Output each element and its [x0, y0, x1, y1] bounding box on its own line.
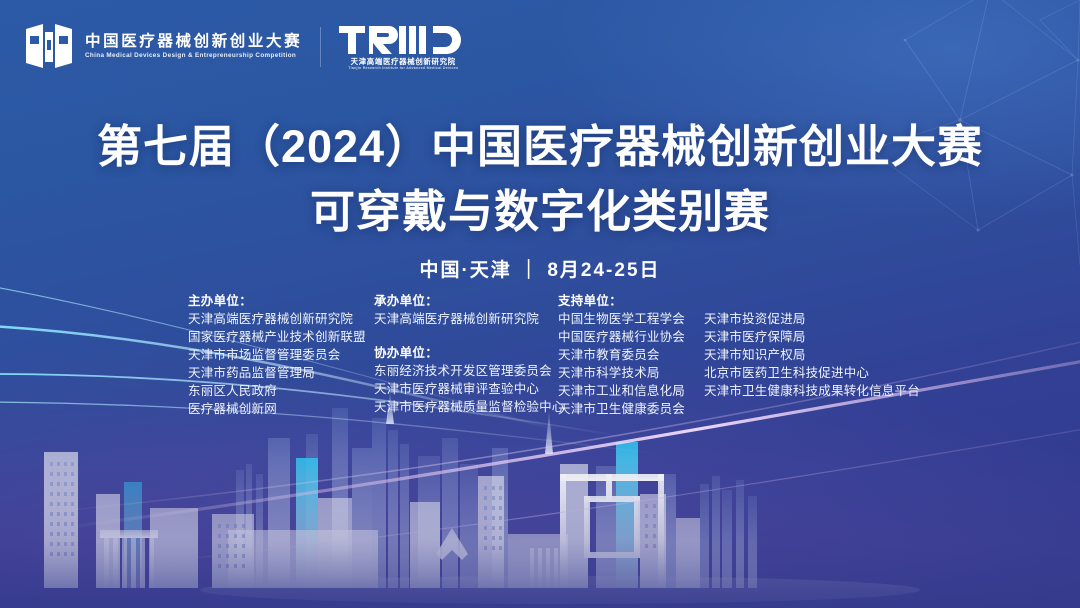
list-item: 天津市科学技术局	[558, 364, 694, 382]
list-item: 国家医疗器械产业技术创新联盟	[188, 328, 374, 346]
list-item: 中国生物医学工程学会	[558, 310, 694, 328]
coorganizer-group: 协办单位： 东丽经济技术开发区管理委员会 天津市医疗器械审评查验中心 天津市医疗…	[374, 344, 558, 416]
event-location-date: 中国·天津 ｜ 8月24-25日	[0, 255, 1080, 282]
supporters-sub-column-b: 天津市投资促进局 天津市医疗保障局 天津市知识产权局 北京市医药卫生科技促进中心…	[704, 292, 914, 418]
title-line-2: 可穿戴与数字化类别赛	[0, 183, 1080, 242]
title-block: 第七届（2024）中国医疗器械创新创业大赛 可穿戴与数字化类别赛	[0, 118, 1080, 241]
list-item: 天津高端医疗器械创新研究院	[188, 310, 374, 328]
list-item: 天津市教育委员会	[558, 346, 694, 364]
cmde-logo-en: China Medical Devices Design & Entrepren…	[85, 53, 307, 59]
organizer-group: 承办单位： 天津高端医疗器械创新研究院	[374, 292, 558, 328]
list-item: 天津市知识产权局	[704, 346, 914, 364]
gate-landmark	[560, 474, 664, 588]
trmd-logo-cn: 天津高端医疗器械创新研究院	[351, 58, 456, 65]
supporters-heading: 支持单位：	[558, 292, 694, 310]
host-column: 主办单位： 天津高端医疗器械创新研究院 国家医疗器械产业技术创新联盟 天津市市场…	[188, 292, 374, 418]
title-line-1: 第七届（2024）中国医疗器械创新创业大赛	[0, 118, 1080, 177]
list-item: 天津市工业和信息化局	[558, 382, 694, 400]
logo-bar: 中国医疗器械创新创业大赛 China Medical Devices Desig…	[24, 22, 467, 71]
cmde-logo-cn: 中国医疗器械创新创业大赛	[85, 34, 302, 50]
host-group: 主办单位： 天津高端医疗器械创新研究院 国家医疗器械产业技术创新联盟 天津市市场…	[188, 292, 374, 418]
organizations-block: 主办单位： 天津高端医疗器械创新研究院 国家医疗器械产业技术创新联盟 天津市市场…	[188, 292, 918, 418]
supporters-column-b-spacer	[704, 292, 914, 310]
list-item: 东丽经济技术开发区管理委员会	[374, 362, 558, 380]
supporters-column: 支持单位： 中国生物医学工程学会 中国医疗器械行业协会 天津市教育委员会 天津市…	[558, 292, 914, 418]
logo-divider	[320, 27, 321, 67]
trmd-logo: 天津高端医疗器械创新研究院 Tianjin Research Institute…	[339, 22, 467, 71]
list-item: 天津市市场监督管理委员会	[188, 346, 374, 364]
cmde-logo: 中国医疗器械创新创业大赛 China Medical Devices Desig…	[24, 23, 302, 70]
open-door-mark-icon	[24, 23, 74, 70]
list-item: 天津市卫生健康科技成果转化信息平台	[704, 382, 914, 400]
bottom-haze	[0, 458, 1080, 608]
supporters-sub-column-a: 支持单位： 中国生物医学工程学会 中国医疗器械行业协会 天津市教育委员会 天津市…	[558, 292, 694, 418]
trmd-logo-en: Tianjin Research Institute for Advanced …	[348, 67, 458, 71]
list-item: 天津市卫生健康委员会	[558, 400, 694, 418]
list-item: 天津高端医疗器械创新研究院	[374, 310, 558, 328]
list-item: 中国医疗器械行业协会	[558, 328, 694, 346]
list-item: 天津市药品监督管理局	[188, 364, 374, 382]
list-item: 天津市医疗器械审评查验中心	[374, 380, 558, 398]
coorganizer-heading: 协办单位：	[374, 344, 558, 362]
organizer-heading: 承办单位：	[374, 292, 558, 310]
poster-banner: 中国医疗器械创新创业大赛 China Medical Devices Desig…	[0, 0, 1080, 608]
host-heading: 主办单位：	[188, 292, 374, 310]
list-item: 天津市投资促进局	[704, 310, 914, 328]
organizer-column: 承办单位： 天津高端医疗器械创新研究院 协办单位： 东丽经济技术开发区管理委员会…	[374, 292, 558, 416]
trmd-wordmark-icon	[339, 24, 467, 56]
list-item: 天津市医疗保障局	[704, 328, 914, 346]
list-item: 天津市医疗器械质量监督检验中心	[374, 398, 558, 416]
list-item: 北京市医药卫生科技促进中心	[704, 364, 914, 382]
list-item: 东丽区人民政府	[188, 382, 374, 400]
list-item: 医疗器械创新网	[188, 400, 374, 418]
